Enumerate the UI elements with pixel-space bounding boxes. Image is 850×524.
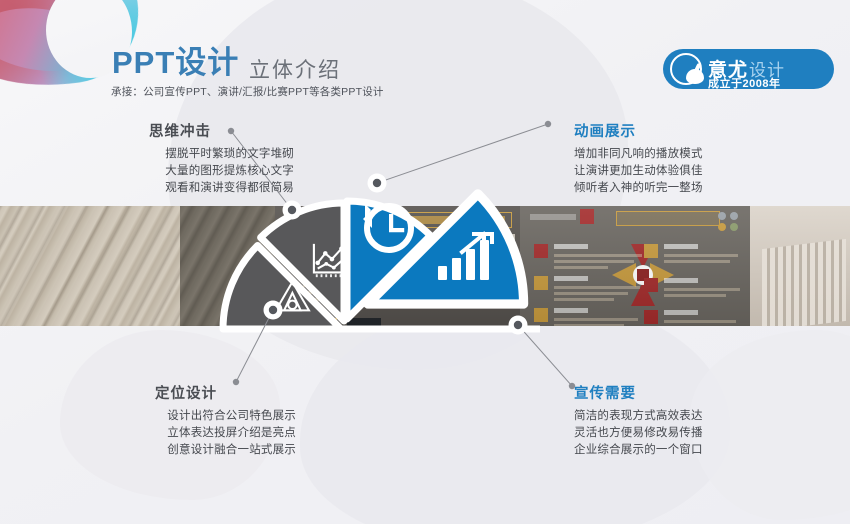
text-block-mind-impact: 思维冲击 摆脱平时繁琐的文字堆砌 大量的图形提炼核心文字 观看和演讲变得都很简易 — [72, 120, 294, 197]
line-animation-display-3: 倾听者入神的听完一整场 — [574, 180, 794, 197]
node-mind-impact-core — [288, 206, 296, 214]
text-block-positioning-design: 定位设计 设计出符合公司特色展示 立体表达投屏介绍是亮点 创意设计融合一站式展示 — [80, 382, 296, 459]
node-animation-display-core — [373, 179, 381, 187]
line-animation-display-1: 增加非同凡响的播放模式 — [574, 146, 794, 163]
line-animation-display-2: 让演讲更加生动体验俱佳 — [574, 163, 794, 180]
text-block-animation-display: 动画展示 增加非同凡响的播放模式 让演讲更加生动体验俱佳 倾听者入神的听完一整场 — [574, 120, 794, 197]
node-promotion-need-core — [514, 321, 522, 329]
line-positioning-design-2: 立体表达投屏介绍是亮点 — [80, 425, 296, 442]
line-mind-impact-2: 大量的图形提炼核心文字 — [72, 163, 294, 180]
endpoint-dot-animation-display — [545, 121, 551, 127]
line-promotion-need-3: 企业综合展示的一个窗口 — [574, 442, 789, 459]
connector-animation-display — [377, 124, 548, 183]
line-promotion-need-1: 简洁的表现方式高效表达 — [574, 408, 789, 425]
line-positioning-design-3: 创意设计融合一站式展示 — [80, 442, 296, 459]
line-positioning-design-1: 设计出符合公司特色展示 — [80, 408, 296, 425]
heading-mind-impact: 思维冲击 — [72, 120, 294, 141]
heading-animation-display: 动画展示 — [574, 120, 794, 141]
slide-canvas: PPT设计 立体介绍 承接：公司宣传PPT、演讲/汇报/比赛PPT等各类PPT设… — [0, 0, 850, 524]
connector-promotion-need — [518, 325, 572, 386]
text-block-promotion-need: 宣传需要 简洁的表现方式高效表达 灵活也方便易修改易传播 企业综合展示的一个窗口 — [574, 382, 789, 459]
heading-positioning-design: 定位设计 — [80, 382, 296, 403]
line-mind-impact-1: 摆脱平时繁琐的文字堆砌 — [72, 146, 294, 163]
node-positioning-design-core — [269, 306, 277, 314]
line-promotion-need-2: 灵活也方便易修改易传播 — [574, 425, 789, 442]
line-mind-impact-3: 观看和演讲变得都很简易 — [72, 180, 294, 197]
heading-promotion-need: 宣传需要 — [574, 382, 789, 403]
